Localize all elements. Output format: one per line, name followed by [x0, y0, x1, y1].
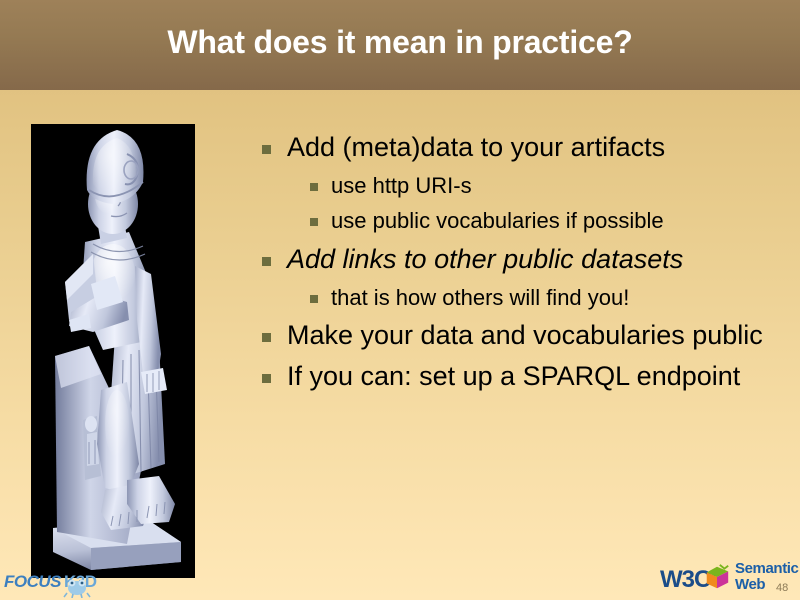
- semantic-web-line2: Web: [735, 576, 765, 593]
- cube-icon: [703, 563, 731, 596]
- slide: What does it mean in practice?: [0, 0, 800, 600]
- bullet-item-5: that is how others will find you!: [262, 285, 786, 311]
- bullet-text: Make your data and vocabularies public: [287, 320, 786, 352]
- focus-logo-text: FOCUS: [4, 572, 61, 592]
- bullet-text: that is how others will find you!: [331, 285, 786, 311]
- bullet-marker-icon: [310, 183, 318, 191]
- bullet-item-1: Add (meta)data to your artifacts: [262, 132, 786, 164]
- frog-icon: [62, 578, 92, 598]
- slide-header: What does it mean in practice?: [0, 0, 800, 90]
- bullet-text: use public vocabularies if possible: [331, 208, 786, 234]
- bullet-text: Add (meta)data to your artifacts: [287, 132, 786, 164]
- bullet-text: If you can: set up a SPARQL endpoint: [287, 361, 786, 393]
- statue-image: [31, 124, 195, 578]
- bullet-marker-icon: [262, 145, 271, 154]
- semantic-web-text: Semantic Web: [735, 561, 799, 593]
- bullet-text: use http URI-s: [331, 173, 786, 199]
- statue-illustration: [31, 124, 195, 578]
- page-number: 48: [776, 582, 788, 594]
- bullet-item-6: Make your data and vocabularies public: [262, 320, 786, 352]
- bullet-item-3: use public vocabularies if possible: [262, 208, 786, 234]
- bullet-text: Add links to other public datasets: [287, 244, 786, 276]
- bullet-item-7: If you can: set up a SPARQL endpoint: [262, 361, 786, 393]
- bullet-list: Add (meta)data to your artifacts use htt…: [262, 132, 786, 393]
- focus-k3d-logo: FOCUS K3D: [4, 570, 134, 598]
- bullet-marker-icon: [310, 295, 318, 303]
- bullet-item-2: use http URI-s: [262, 173, 786, 199]
- statue-svg: [31, 124, 195, 578]
- bullet-marker-icon: [262, 374, 271, 383]
- bullet-marker-icon: [262, 333, 271, 342]
- semantic-web-line1: Semantic: [735, 560, 799, 577]
- bullet-marker-icon: [262, 257, 271, 266]
- bullet-marker-icon: [310, 218, 318, 226]
- page-title: What does it mean in practice?: [0, 24, 800, 61]
- bullet-item-4: Add links to other public datasets: [262, 244, 786, 276]
